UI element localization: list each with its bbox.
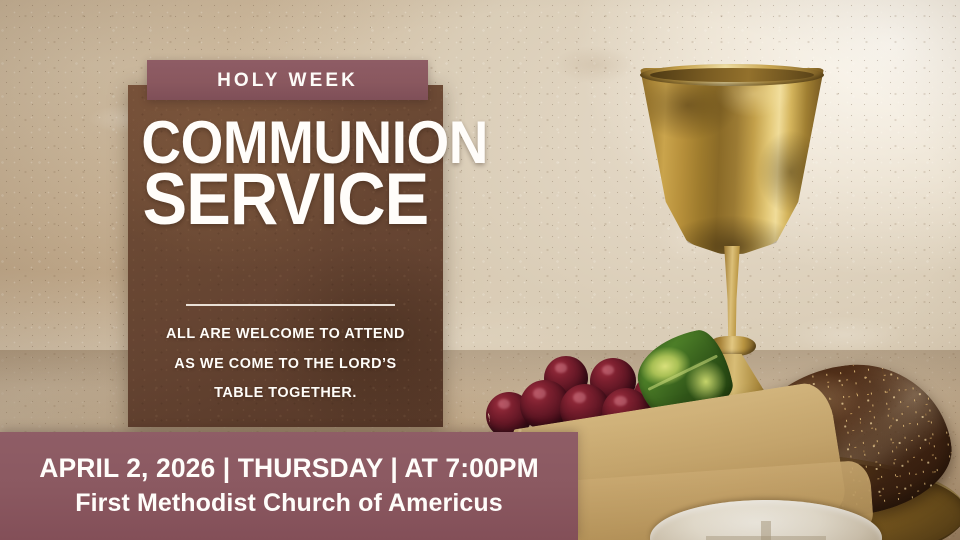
event-date-time: APRIL 2, 2026 | THURSDAY | AT 7:00PM: [39, 453, 539, 485]
communion-service-flyer: HOLY WEEK COMMUNION SERVICE ALL ARE WELC…: [0, 0, 960, 540]
church-name: First Methodist Church of Americus: [75, 487, 503, 519]
page-title: COMMUNION SERVICE: [128, 118, 443, 230]
holy-week-ribbon: HOLY WEEK: [147, 60, 428, 100]
invitation-line-1: ALL ARE WELCOME TO ATTEND: [140, 320, 431, 350]
title-line-service: SERVICE: [141, 169, 429, 231]
holy-week-label: HOLY WEEK: [217, 71, 358, 90]
invitation-line-2: AS WE COME TO THE LORD’S: [140, 350, 431, 380]
event-details-banner: APRIL 2, 2026 | THURSDAY | AT 7:00PM Fir…: [0, 432, 578, 540]
invitation-line-3: TABLE TOGETHER.: [140, 379, 431, 409]
invitation-text: ALL ARE WELCOME TO ATTEND AS WE COME TO …: [140, 320, 431, 409]
title-divider: [186, 304, 395, 306]
